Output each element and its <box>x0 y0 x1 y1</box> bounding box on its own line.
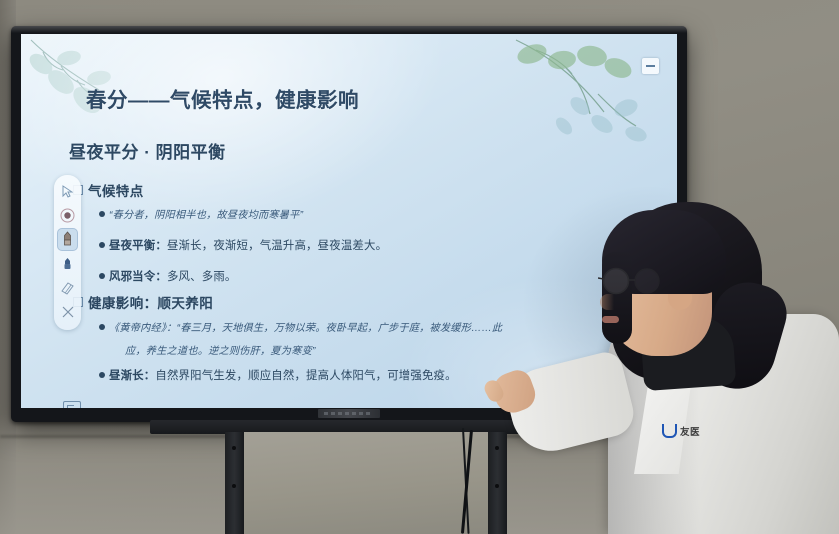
section-heading-climate: 气候特点 <box>73 180 144 200</box>
annotation-toolbar[interactable] <box>54 175 81 330</box>
stand-screw <box>232 446 236 450</box>
section-heading-health: 健康影响：顺天养阳 <box>73 292 213 312</box>
bezel-highlight <box>11 26 687 33</box>
close-icon[interactable] <box>57 300 78 323</box>
bullet-climate-3-lead: 风邪当令： <box>109 271 167 283</box>
stand-leg-right <box>488 432 507 534</box>
eraser-icon[interactable] <box>57 276 78 299</box>
slide-title: 春分——气候特点，健康影响 <box>86 83 359 113</box>
bullet-climate-2-text: 昼渐长，夜渐短，气温升高，昼夜温差大。 <box>167 240 387 252</box>
u-logo-icon <box>662 424 677 438</box>
stand-screw <box>232 484 236 488</box>
coat-logo-text: 友医 <box>680 424 700 438</box>
bullet-health-1-cont-text: 应，养生之道也。逆之则伤肝，夏为寒变” <box>125 346 316 357</box>
bullet-health-1-text: “春三月，天地俱生，万物以荣。夜卧早起，广步于庭，被发缓形……此 <box>177 323 503 334</box>
stand-screw <box>495 484 499 488</box>
nose <box>600 294 614 310</box>
bullet-climate-1: “春分者，阴阳相半也，故昼夜均而寒暑平” <box>99 206 303 221</box>
lips <box>602 316 619 323</box>
restore-window-icon[interactable] <box>63 401 81 408</box>
stand-back-panel <box>244 432 488 534</box>
bullet-health-1-lead: 《黄帝内经》： <box>109 323 177 334</box>
bullet-climate-2: 昼夜平衡：昼渐长，夜渐短，气温升高，昼夜温差大。 <box>99 237 387 253</box>
round-bullet-icon <box>99 372 105 378</box>
bullet-health-2-lead: 昼渐长： <box>109 370 155 382</box>
bullet-climate-1-text: “春分者，阴阳相半也，故昼夜均而寒暑平” <box>109 210 303 221</box>
color-dot-icon[interactable] <box>57 204 78 227</box>
presenter: 友医 <box>556 196 839 534</box>
bullet-health-1-continued: 应，养生之道也。逆之则伤肝，夏为寒变” <box>125 342 316 357</box>
slide-subtitle: 昼夜平分 · 阴阳平衡 <box>69 138 226 163</box>
coat-logo: 友医 <box>662 424 700 438</box>
stand-screw <box>495 446 499 450</box>
bullet-climate-2-lead: 昼夜平衡： <box>109 240 167 252</box>
cursor-icon[interactable] <box>57 180 78 203</box>
stand-leg-left <box>225 432 244 534</box>
round-bullet-icon <box>99 211 105 217</box>
bullet-health-2: 昼渐长：自然界阳气生发，顺应自然，提高人体阳气，可增强免疫。 <box>99 367 457 383</box>
section-heading-climate-label: 气候特点 <box>88 184 144 199</box>
round-bullet-icon <box>99 273 105 279</box>
marker-icon[interactable] <box>57 252 78 275</box>
glasses-icon <box>598 266 682 296</box>
bullet-health-1: 《黄帝内经》：“春三月，天地俱生，万物以荣。夜卧早起，广步于庭，被发缓形……此 <box>99 319 502 334</box>
device-brand-label <box>318 409 380 418</box>
round-bullet-icon <box>99 242 105 248</box>
bullet-health-2-text: 自然界阳气生发，顺应自然，提高人体阳气，可增强免疫。 <box>155 370 456 382</box>
round-bullet-icon <box>99 324 105 330</box>
bullet-climate-3-text: 多风、多雨。 <box>167 271 237 283</box>
pen-icon[interactable] <box>57 228 78 251</box>
section-heading-health-label: 健康影响：顺天养阳 <box>88 296 213 311</box>
classroom-scene: 春分——气候特点，健康影响 昼夜平分 · 阴阳平衡 气候特点 “春分者，阴阳相半… <box>0 0 839 534</box>
bullet-climate-3: 风邪当令：多风、多雨。 <box>99 268 237 284</box>
